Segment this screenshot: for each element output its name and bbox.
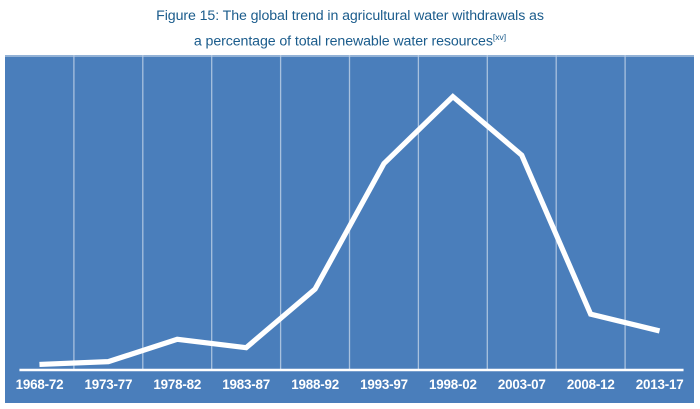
chart-plot-area: 1968-721973-771978-821983-871988-921993-… [5, 55, 694, 403]
x-tick-label-2008-12: 2008-12 [556, 373, 625, 397]
x-tick-label-1983-87: 1983-87 [212, 373, 281, 397]
figure-title: Figure 15: The global trend in agricultu… [0, 6, 700, 53]
x-tick-label-2003-07: 2003-07 [487, 373, 556, 397]
x-tick-label-1973-77: 1973-77 [74, 373, 143, 397]
x-tick-label-1993-97: 1993-97 [350, 373, 419, 397]
figure-title-line-2: a percentage of total renewable water re… [0, 27, 700, 53]
figure-title-line-1: Figure 15: The global trend in agricultu… [0, 6, 700, 27]
x-tick-label-1988-92: 1988-92 [281, 373, 350, 397]
figure-container: Figure 15: The global trend in agricultu… [0, 0, 700, 409]
x-tick-label-1998-02: 1998-02 [418, 373, 487, 397]
figure-title-superscript: [xv] [493, 32, 506, 42]
x-tick-label-1968-72: 1968-72 [5, 373, 74, 397]
x-axis-label-row: 1968-721973-771978-821983-871988-921993-… [5, 373, 694, 397]
x-tick-label-1978-82: 1978-82 [143, 373, 212, 397]
figure-title-line-2-text: a percentage of total renewable water re… [194, 34, 493, 50]
gridlines-group [74, 55, 625, 370]
line-chart-svg [5, 55, 694, 403]
x-tick-label-2013-17: 2013-17 [625, 373, 694, 397]
